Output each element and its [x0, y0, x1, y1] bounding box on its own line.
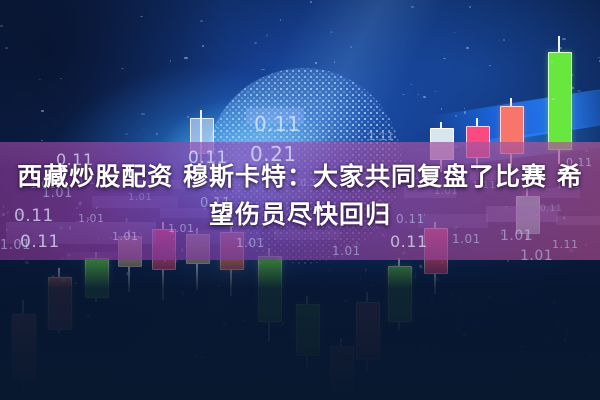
price-label: 1.11 — [552, 238, 579, 251]
headline-line-1: 西藏炒股配资 穆斯卡特：大家共同复盘了比赛 希 — [6, 158, 594, 196]
price-label: 1.01 — [236, 236, 265, 250]
price-label: 1.01 — [0, 238, 31, 253]
headline-line-2: 望伤员尽快回归 — [6, 196, 594, 234]
price-label: 0.11 — [390, 232, 428, 251]
price-label: 1.01 — [332, 244, 361, 258]
news-thumbnail-image: 0.110.211.110.110.111.111.010.110.111.01… — [0, 0, 600, 400]
price-label: 0.11 — [254, 112, 301, 136]
price-label: 1.11 — [368, 130, 395, 143]
headline-text: 西藏炒股配资 穆斯卡特：大家共同复盘了比赛 希 望伤员尽快回归 — [0, 158, 600, 234]
price-label: 1.01 — [520, 248, 553, 264]
price-label: 1.01 — [452, 232, 481, 246]
